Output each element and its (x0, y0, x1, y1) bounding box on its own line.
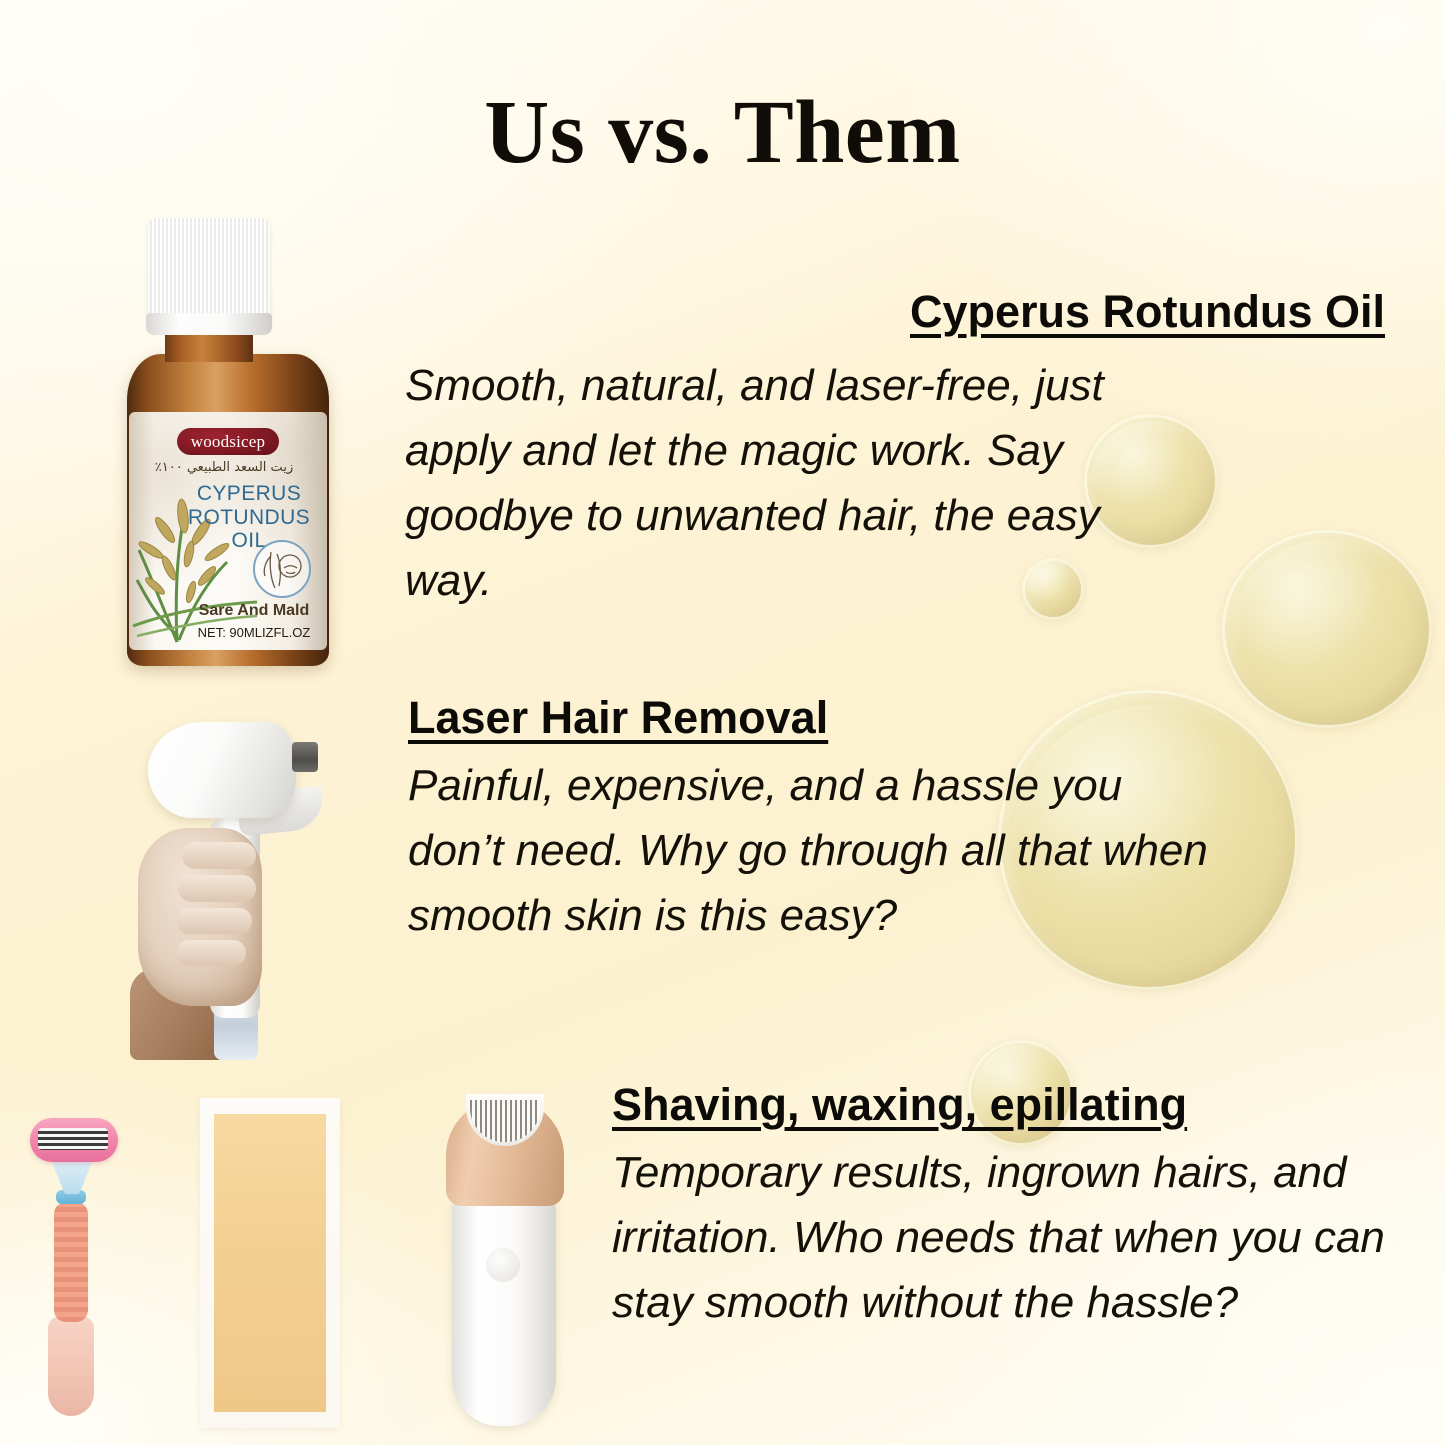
label-arabic-text: زيت السعد الطبيعي ١٠٠٪ (129, 460, 319, 475)
finger (176, 908, 252, 934)
product-bottle-image: woodsicep زيت السعد الطبيعي ١٠٠٪ CYPERUS… (113, 218, 343, 666)
razor-blades (38, 1128, 108, 1150)
section-body: Smooth, natural, and laser-free, just ap… (405, 353, 1195, 613)
finger (178, 875, 256, 902)
epilator-power-button[interactable] (486, 1248, 520, 1282)
wax-strip-surface (214, 1114, 326, 1412)
device-tip (292, 742, 318, 772)
razor-handle-end (48, 1316, 94, 1416)
razor-image (22, 1118, 122, 1418)
section-cyperus-rotundus-oil: Cyperus Rotundus Oil Smooth, natural, an… (405, 288, 1385, 613)
section-body: Painful, expensive, and a hassle you don… (408, 753, 1208, 948)
skin-application-icon (253, 540, 311, 598)
section-shaving-waxing-epillating: Shaving, waxing, epillating Temporary re… (612, 1081, 1402, 1335)
label-tagline: Sare And Mald (189, 602, 319, 620)
section-body: Temporary results, ingrown hairs, and ir… (612, 1140, 1402, 1335)
brand-badge: woodsicep (177, 428, 279, 455)
comparison-infographic: Us vs. Them Cyperus Rotundus Oil Smooth,… (0, 0, 1445, 1445)
label-net-contents: NET: 90MLIZFL.OZ (189, 625, 319, 640)
section-heading: Laser Hair Removal (408, 694, 1208, 743)
wax-strip-image (200, 1098, 340, 1428)
section-heading: Cyperus Rotundus Oil (405, 288, 1385, 337)
section-laser-hair-removal: Laser Hair Removal Painful, expensive, a… (408, 694, 1208, 948)
razor-yoke (50, 1158, 94, 1194)
finger (182, 842, 256, 869)
laser-handpiece-image (130, 700, 352, 1060)
finger (176, 940, 246, 966)
product-name-line-1: CYPERUS (197, 482, 301, 505)
razor-grip (54, 1202, 88, 1322)
bottle-cap-lip (146, 313, 272, 335)
epilator-body (452, 1194, 556, 1426)
bottle-label: woodsicep زيت السعد الطبيعي ١٠٠٪ CYPERUS… (129, 412, 327, 650)
page-title: Us vs. Them (0, 88, 1445, 178)
device-head (148, 722, 296, 818)
epilator-image (440, 1098, 570, 1428)
section-heading: Shaving, waxing, epillating (612, 1081, 1402, 1130)
